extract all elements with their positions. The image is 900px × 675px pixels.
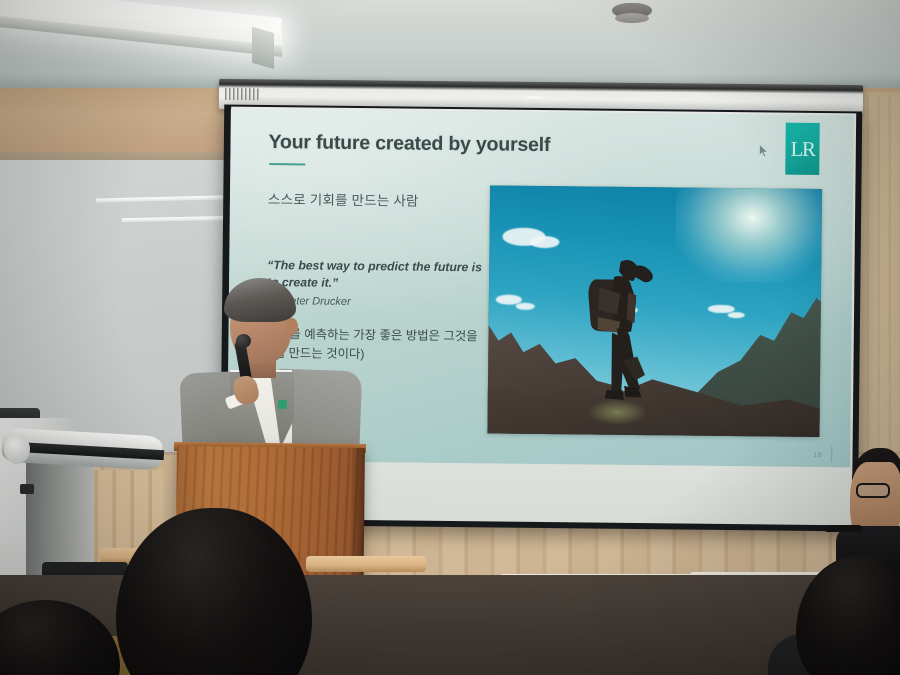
- photo-sun-flare: [675, 185, 822, 283]
- housing-glint: [519, 96, 549, 99]
- plotter-control-button[interactable]: [20, 484, 34, 494]
- glasses-icon: [856, 483, 890, 498]
- microphone-boom: [824, 525, 862, 532]
- presenter-hair: [224, 278, 296, 322]
- fluorescent-light-end: [252, 27, 274, 69]
- slide-photo-hiker: [487, 185, 822, 437]
- slide-subtitle: 스스로 기회를 만드는 사람: [268, 188, 419, 210]
- slide-page-marker: [831, 446, 832, 462]
- housing-label: [225, 88, 259, 100]
- mouse-pointer-icon: [759, 144, 768, 157]
- photo-hiker-silhouette: [577, 256, 658, 411]
- desk-surface-wood: [306, 556, 426, 572]
- slide-title: Your future created by yourself: [268, 131, 550, 157]
- presenter-ear: [286, 318, 298, 335]
- slide-logo-text: LR: [785, 123, 820, 175]
- photo-cloud: [529, 235, 559, 248]
- wall-right-panel: [858, 96, 900, 496]
- plotter-roll-cap: [4, 434, 30, 464]
- presenter-lapel-badge: [278, 400, 287, 409]
- slide-page-number: 18: [813, 452, 822, 459]
- slide-title-accent-rule: [269, 163, 305, 165]
- lecture-hall-scene: Your future created by yourself 스스로 기회를 …: [0, 0, 900, 675]
- slide-logo-block: LR: [785, 123, 820, 175]
- smoke-detector-icon: [612, 3, 652, 18]
